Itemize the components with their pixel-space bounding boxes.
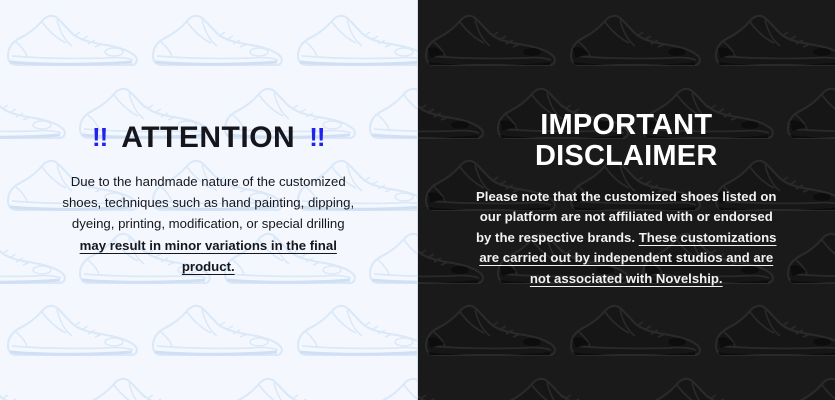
disclaimer-content: IMPORTANT DISCLAIMER Please note that th… (418, 0, 835, 400)
disclaimer-body: Please note that the customized shoes li… (470, 187, 782, 290)
attention-title: ATTENTION (121, 123, 295, 153)
exclamation-right-icon: !! (309, 124, 324, 150)
attention-body: Due to the handmade nature of the custom… (57, 171, 359, 278)
attention-heading: !! ATTENTION !! (92, 123, 325, 153)
attention-panel: !! ATTENTION !! Due to the handmade natu… (0, 0, 418, 400)
attention-content: !! ATTENTION !! Due to the handmade natu… (0, 0, 417, 400)
attention-body-emphasis: may result in minor variations in the fi… (80, 238, 337, 274)
exclamation-left-icon: !! (92, 124, 107, 150)
disclaimer-heading: IMPORTANT DISCLAIMER (535, 110, 717, 170)
disclaimer-title-line-2: DISCLAIMER (535, 141, 717, 171)
attention-body-normal: Due to the handmade nature of the custom… (62, 174, 354, 232)
disclaimer-banner: !! ATTENTION !! Due to the handmade natu… (0, 0, 835, 400)
disclaimer-title-line-1: IMPORTANT (535, 110, 717, 140)
disclaimer-panel: IMPORTANT DISCLAIMER Please note that th… (418, 0, 835, 400)
